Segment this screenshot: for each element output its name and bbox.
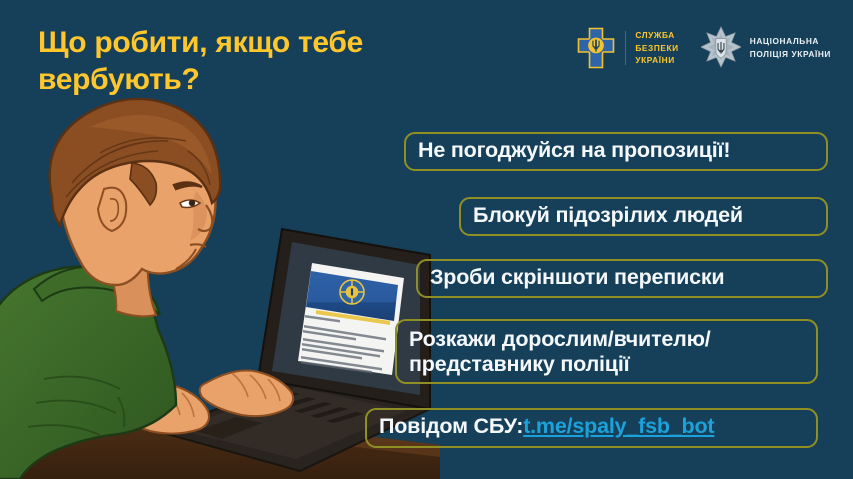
advice-box-4: Розкажи дорослим/вчителю/ представнику п… [395, 319, 818, 384]
police-star-emblem-icon [701, 26, 741, 70]
sbu-logo-line-1: СЛУЖБА [635, 29, 678, 42]
advice-box-3-text: Зроби скріншоти переписки [430, 265, 724, 290]
sbu-logo: СЛУЖБА БЕЗПЕКИ УКРАЇНИ [576, 26, 678, 70]
sbu-logo-line-2: БЕЗПЕКИ [635, 42, 678, 55]
advice-box-4-text: Розкажи дорослим/вчителю/ представнику п… [409, 327, 711, 378]
advice-box-2-text: Блокуй підозрілих людей [473, 203, 743, 228]
infographic-canvas: Що робити, якщо тебе вербують? [0, 0, 853, 479]
advice-box-4-line-1: Розкажи дорослим/вчителю/ [409, 327, 711, 351]
logo-divider [625, 31, 626, 65]
logo-group: СЛУЖБА БЕЗПЕКИ УКРАЇНИ [576, 26, 831, 70]
police-logo-line-1: НАЦІОНАЛЬНА [750, 35, 831, 48]
police-logo-line-2: ПОЛІЦІЯ УКРАЇНИ [750, 48, 831, 61]
advice-box-2: Блокуй підозрілих людей [459, 197, 828, 236]
advice-box-3: Зроби скріншоти переписки [416, 259, 828, 298]
sbu-logo-text: СЛУЖБА БЕЗПЕКИ УКРАЇНИ [635, 29, 678, 68]
sbu-logo-line-3: УКРАЇНИ [635, 54, 678, 67]
national-police-logo: НАЦІОНАЛЬНА ПОЛІЦІЯ УКРАЇНИ [701, 26, 831, 70]
police-logo-text: НАЦІОНАЛЬНА ПОЛІЦІЯ УКРАЇНИ [750, 35, 831, 61]
report-label: Повідом СБУ: [379, 414, 523, 439]
advice-box-4-line-2: представнику поліції [409, 352, 629, 376]
advice-box-5-report-sbu: Повідом СБУ: t.me/spaly_fsb_bot [365, 408, 818, 448]
sbu-cross-emblem-icon [576, 26, 616, 70]
advice-box-1: Не погоджуйся на пропозиції! [404, 132, 828, 171]
telegram-bot-link[interactable]: t.me/spaly_fsb_bot [523, 414, 714, 439]
advice-box-1-text: Не погоджуйся на пропозиції! [418, 138, 730, 163]
